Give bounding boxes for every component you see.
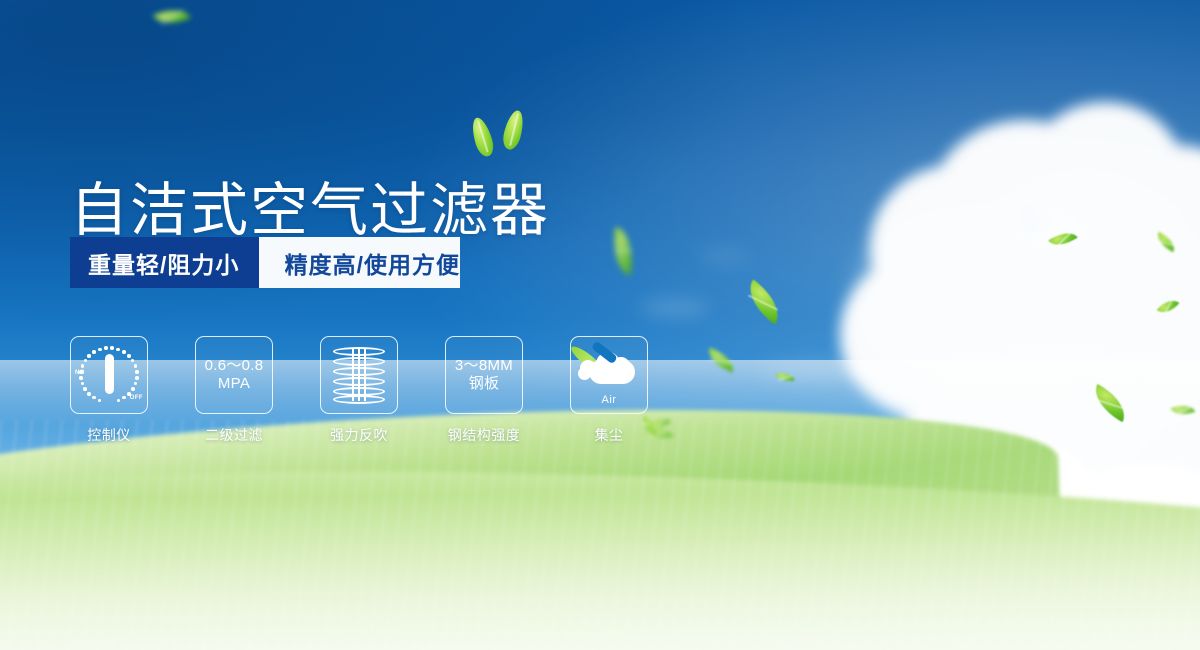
dial-tick-dot xyxy=(87,392,91,396)
product-banner: 自洁式空气过滤器 重量轻/阻力小 精度高/使用方便 NO OFF 控制仪 xyxy=(0,0,1200,650)
steel-line-1: 3～8MM xyxy=(455,357,513,375)
feature-item-two-stage-filter[interactable]: 0.6～0.8 MPA 二级过滤 xyxy=(195,336,273,445)
dial-tick-dot xyxy=(122,350,126,354)
feature-label: 强力反吹 xyxy=(320,425,398,445)
feature-item-blowback[interactable]: 强力反吹 xyxy=(320,336,398,445)
dial-label-off: OFF xyxy=(130,395,143,401)
steel-line-2: 钢板 xyxy=(455,375,513,393)
dial-tick-dot xyxy=(104,346,108,350)
feature-label: 二级过滤 xyxy=(195,425,273,445)
cloud-wisp xyxy=(700,250,750,262)
dial-tick-dot xyxy=(84,359,88,363)
subtitle-left-text: 重量轻/阻力小 xyxy=(88,246,239,280)
feature-item-controller[interactable]: NO OFF 控制仪 xyxy=(70,336,148,445)
feature-icon-box xyxy=(320,336,398,414)
dial-tick-dot xyxy=(122,396,126,400)
sprout-leaves-icon xyxy=(470,108,540,160)
subtitle-right-block: 精度高/使用方便 xyxy=(259,237,460,288)
dial-tick-dot xyxy=(117,399,121,403)
dial-tick-dot xyxy=(116,348,120,352)
feature-icon-box: 3～8MM 钢板 xyxy=(445,336,523,414)
feature-item-steel-strength[interactable]: 3～8MM 钢板 钢结构强度 xyxy=(445,336,523,445)
dial-tick-dot xyxy=(83,387,87,391)
dial-tick-dot xyxy=(135,376,139,380)
feature-label: 集尘 xyxy=(570,425,648,445)
pressure-line-2: MPA xyxy=(205,375,264,393)
dial-gauge-icon: NO OFF xyxy=(76,344,142,406)
cloud-wisp xyxy=(640,300,710,316)
air-caption: Air xyxy=(578,394,640,406)
subtitle-bar: 重量轻/阻力小 精度高/使用方便 xyxy=(70,237,460,288)
feature-icon-box: 0.6～0.8 MPA xyxy=(195,336,273,414)
feature-icon-box: Air xyxy=(570,336,648,414)
dial-tick-dot xyxy=(134,364,138,368)
steel-plate-text-icon: 3～8MM 钢板 xyxy=(455,357,513,394)
dial-tick-dot xyxy=(81,382,85,386)
dial-tick-dot xyxy=(131,387,135,391)
feature-item-dust-collection[interactable]: Air 集尘 xyxy=(570,336,648,445)
dial-tick-dot xyxy=(127,392,131,396)
coil-blowback-icon xyxy=(333,347,385,403)
pressure-text-icon: 0.6～0.8 MPA xyxy=(205,357,264,394)
feature-list: NO OFF 控制仪 0.6～0.8 MPA 二级过滤 xyxy=(70,336,648,445)
subtitle-left-block: 重量轻/阻力小 xyxy=(70,237,259,288)
dial-tick-dot xyxy=(135,370,139,374)
dial-tick-dot xyxy=(92,396,96,400)
dial-tick-dot xyxy=(81,364,85,368)
pressure-line-1: 0.6～0.8 xyxy=(205,357,264,375)
dial-tick-dot xyxy=(98,399,102,403)
feature-icon-box: NO OFF xyxy=(70,336,148,414)
feature-label: 钢结构强度 xyxy=(445,425,523,445)
dial-tick-dot xyxy=(98,348,102,352)
dial-tick-dot xyxy=(110,346,114,350)
dial-tick-dot xyxy=(92,350,96,354)
feature-label: 控制仪 xyxy=(70,425,148,445)
dial-tick-dot xyxy=(131,359,135,363)
air-cloud-icon: Air xyxy=(578,346,640,404)
dial-tick-dot xyxy=(79,370,83,374)
subtitle-right-text: 精度高/使用方便 xyxy=(285,246,460,280)
dial-tick-dot xyxy=(127,354,131,358)
dial-tick-dot xyxy=(87,354,91,358)
page-title: 自洁式空气过滤器 xyxy=(70,182,550,240)
dial-tick-dot xyxy=(79,376,83,380)
dial-tick-dot xyxy=(134,382,138,386)
